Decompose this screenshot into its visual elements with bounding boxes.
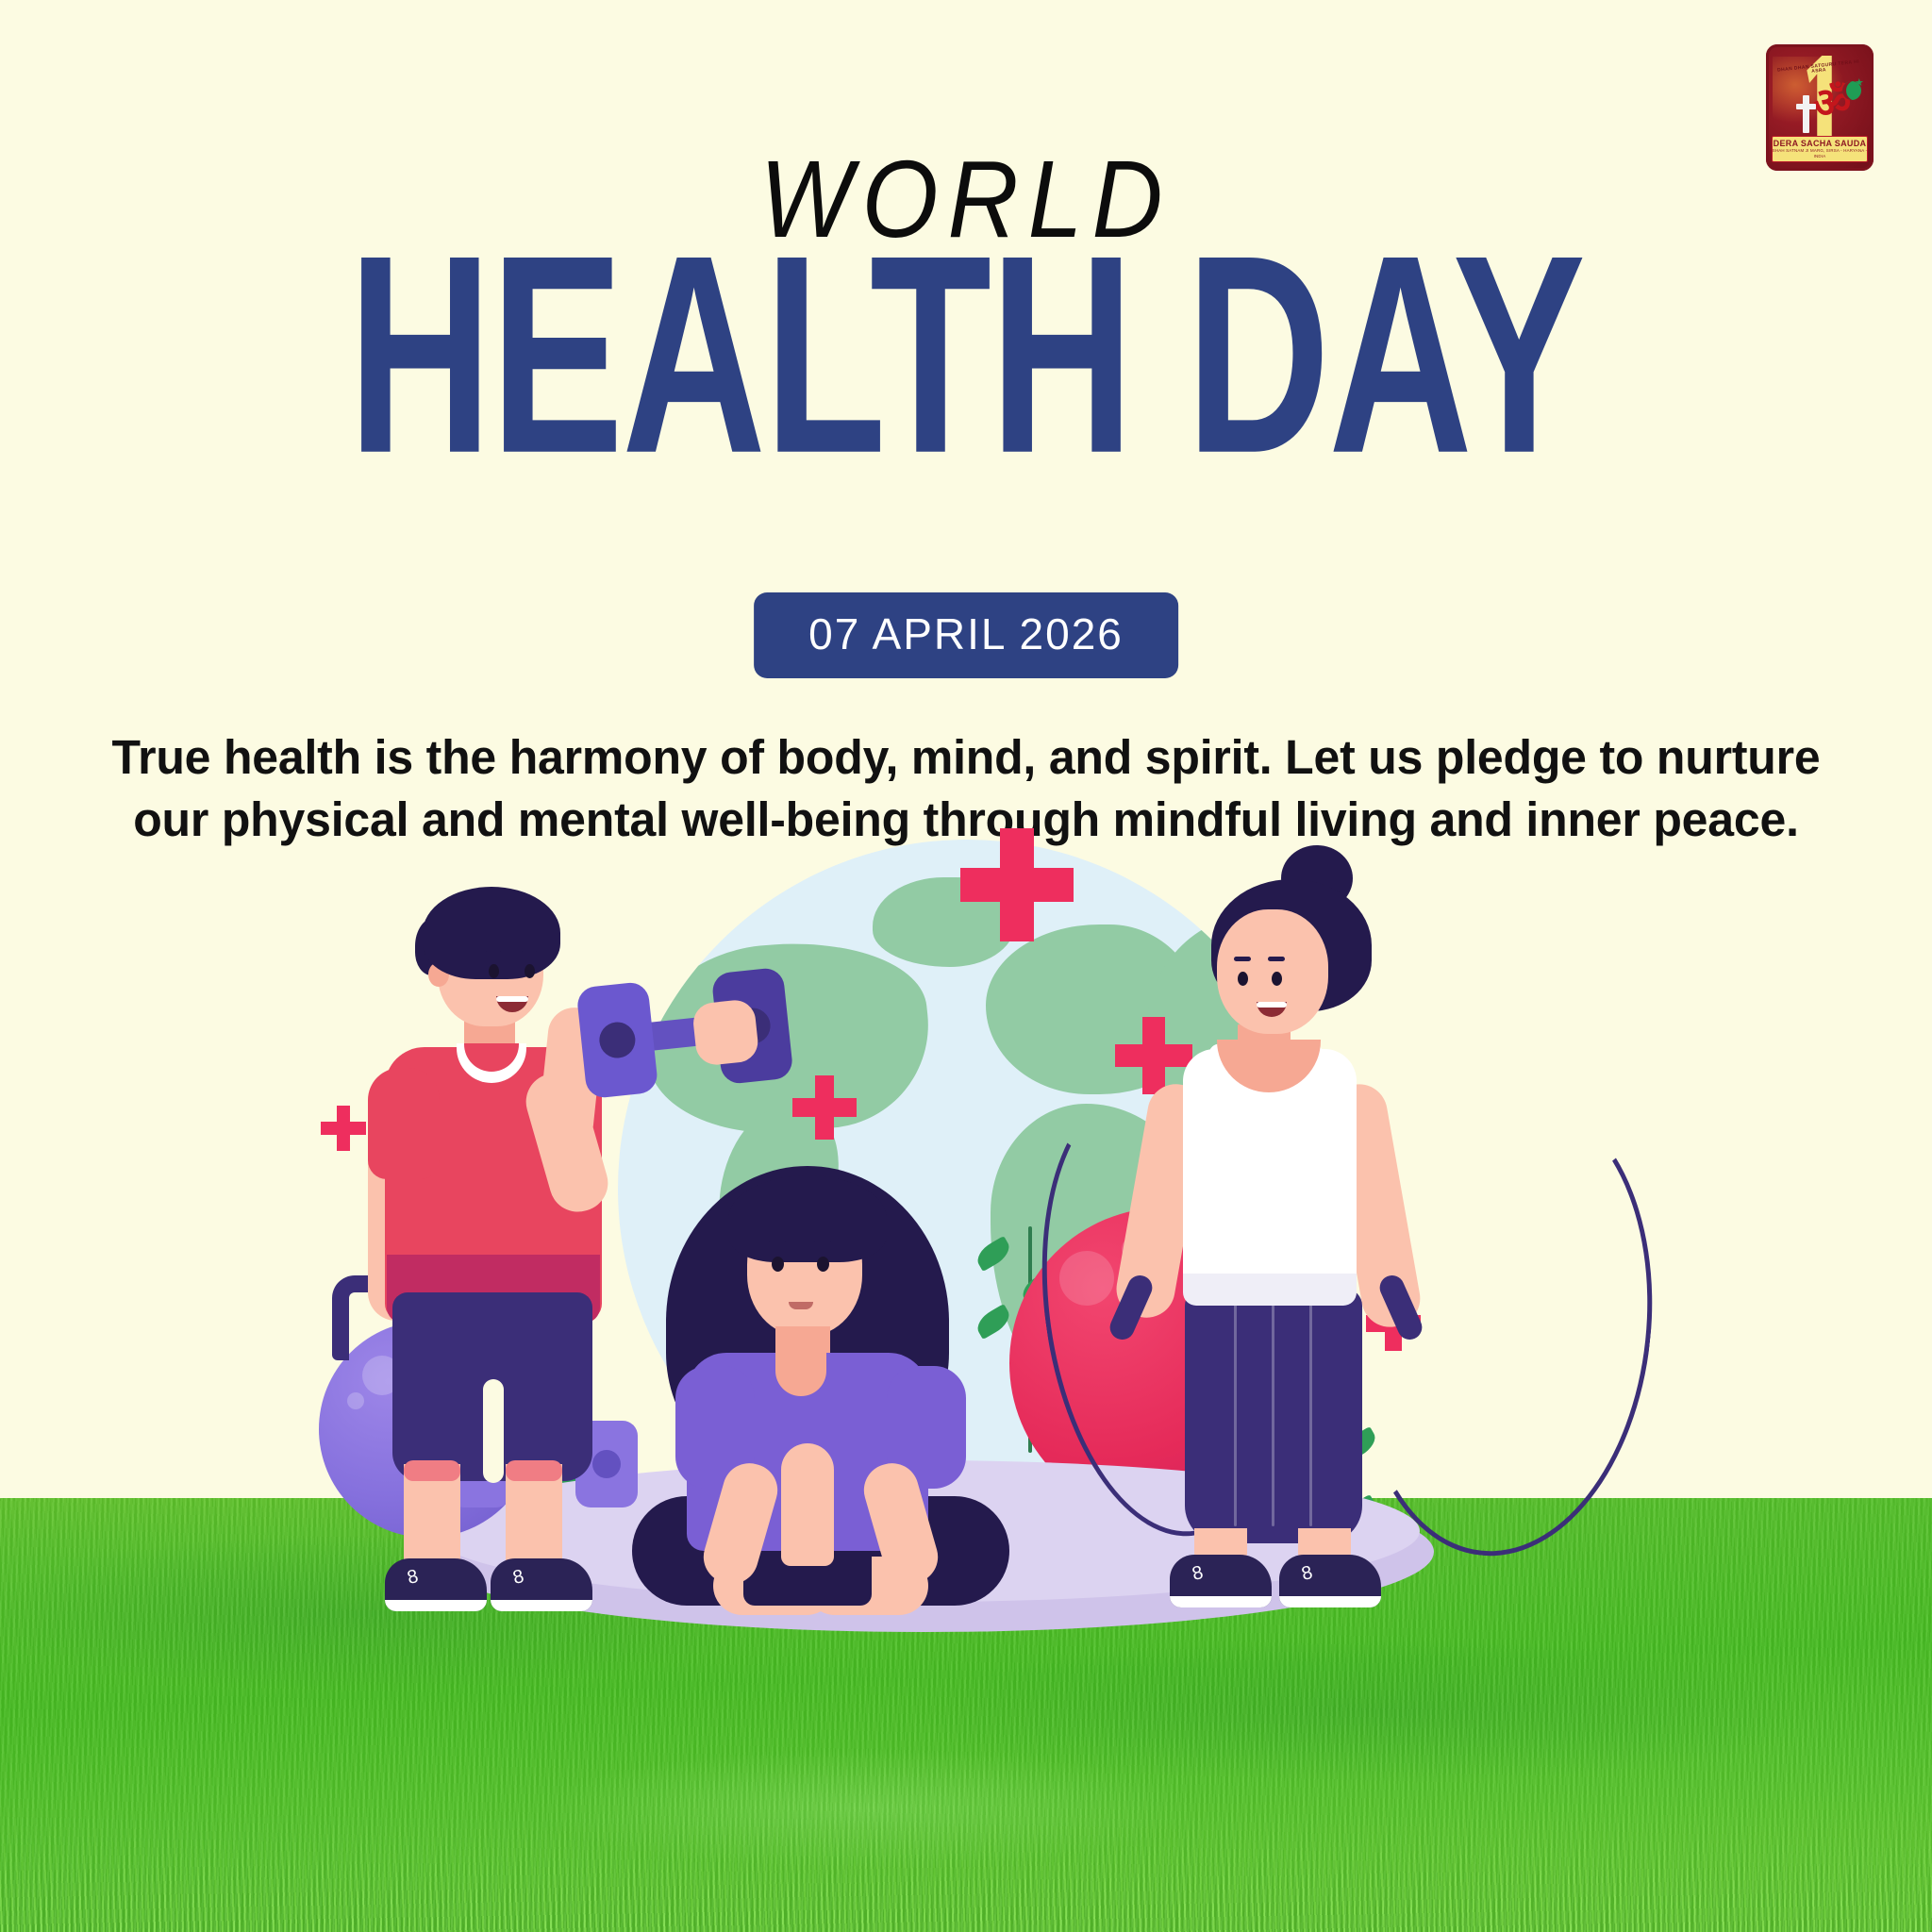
jumper-right-shoe: 8 bbox=[1279, 1555, 1381, 1607]
man-left-knee bbox=[404, 1460, 460, 1481]
jumper-eyebrow bbox=[1234, 957, 1251, 961]
man-eyebrow bbox=[485, 951, 502, 956]
yogi-eye bbox=[817, 1257, 829, 1272]
jumper-left-shoe: 8 bbox=[1170, 1555, 1272, 1607]
christian-cross-icon bbox=[1803, 95, 1809, 133]
man-right-knee bbox=[506, 1460, 562, 1481]
medical-cross-large-icon bbox=[960, 828, 1074, 941]
jumper-eye bbox=[1238, 972, 1248, 986]
man-right-shoe: 8 bbox=[491, 1558, 592, 1611]
figure-woman-with-jump-rope: 8 8 bbox=[1113, 830, 1509, 1604]
man-eye bbox=[525, 964, 535, 978]
yogi-eyebrow bbox=[768, 1241, 787, 1246]
figure-woman-meditating bbox=[623, 1160, 1019, 1604]
jumper-leggings bbox=[1185, 1289, 1362, 1543]
yogi-mouth bbox=[789, 1302, 813, 1309]
jumper-eye bbox=[1272, 972, 1282, 986]
page-title: HEALTH DAY bbox=[77, 223, 1855, 488]
dumbbell-held-icon bbox=[575, 967, 793, 1099]
man-shorts bbox=[392, 1292, 592, 1481]
date-badge: 07 APRIL 2026 bbox=[754, 592, 1178, 678]
man-hand bbox=[691, 998, 760, 1067]
star-icon: ★ bbox=[1855, 78, 1864, 89]
jumper-eyebrow bbox=[1268, 957, 1285, 961]
man-eyebrow bbox=[521, 951, 538, 956]
dumbbell-weight bbox=[575, 981, 658, 1099]
man-left-shoe: 8 bbox=[385, 1558, 487, 1611]
yogi-eyebrow bbox=[813, 1241, 832, 1246]
illustration-scene: 8 8 bbox=[0, 849, 1932, 1932]
yogi-eye bbox=[772, 1257, 784, 1272]
world-health-day-poster: DHAN DHAN SATGURU TERA HI ASRA ॐ ★ DERA … bbox=[0, 0, 1932, 1932]
man-eye bbox=[489, 964, 499, 978]
yogi-namaste-hands bbox=[781, 1443, 834, 1566]
tagline-line-1: True health is the harmony of body, mind… bbox=[111, 730, 1820, 784]
medical-cross-small-icon bbox=[792, 1075, 857, 1140]
jumper-tank-band bbox=[1183, 1274, 1357, 1306]
yogi-hair-top bbox=[728, 1175, 887, 1262]
man-left-sleeve bbox=[368, 1068, 440, 1179]
